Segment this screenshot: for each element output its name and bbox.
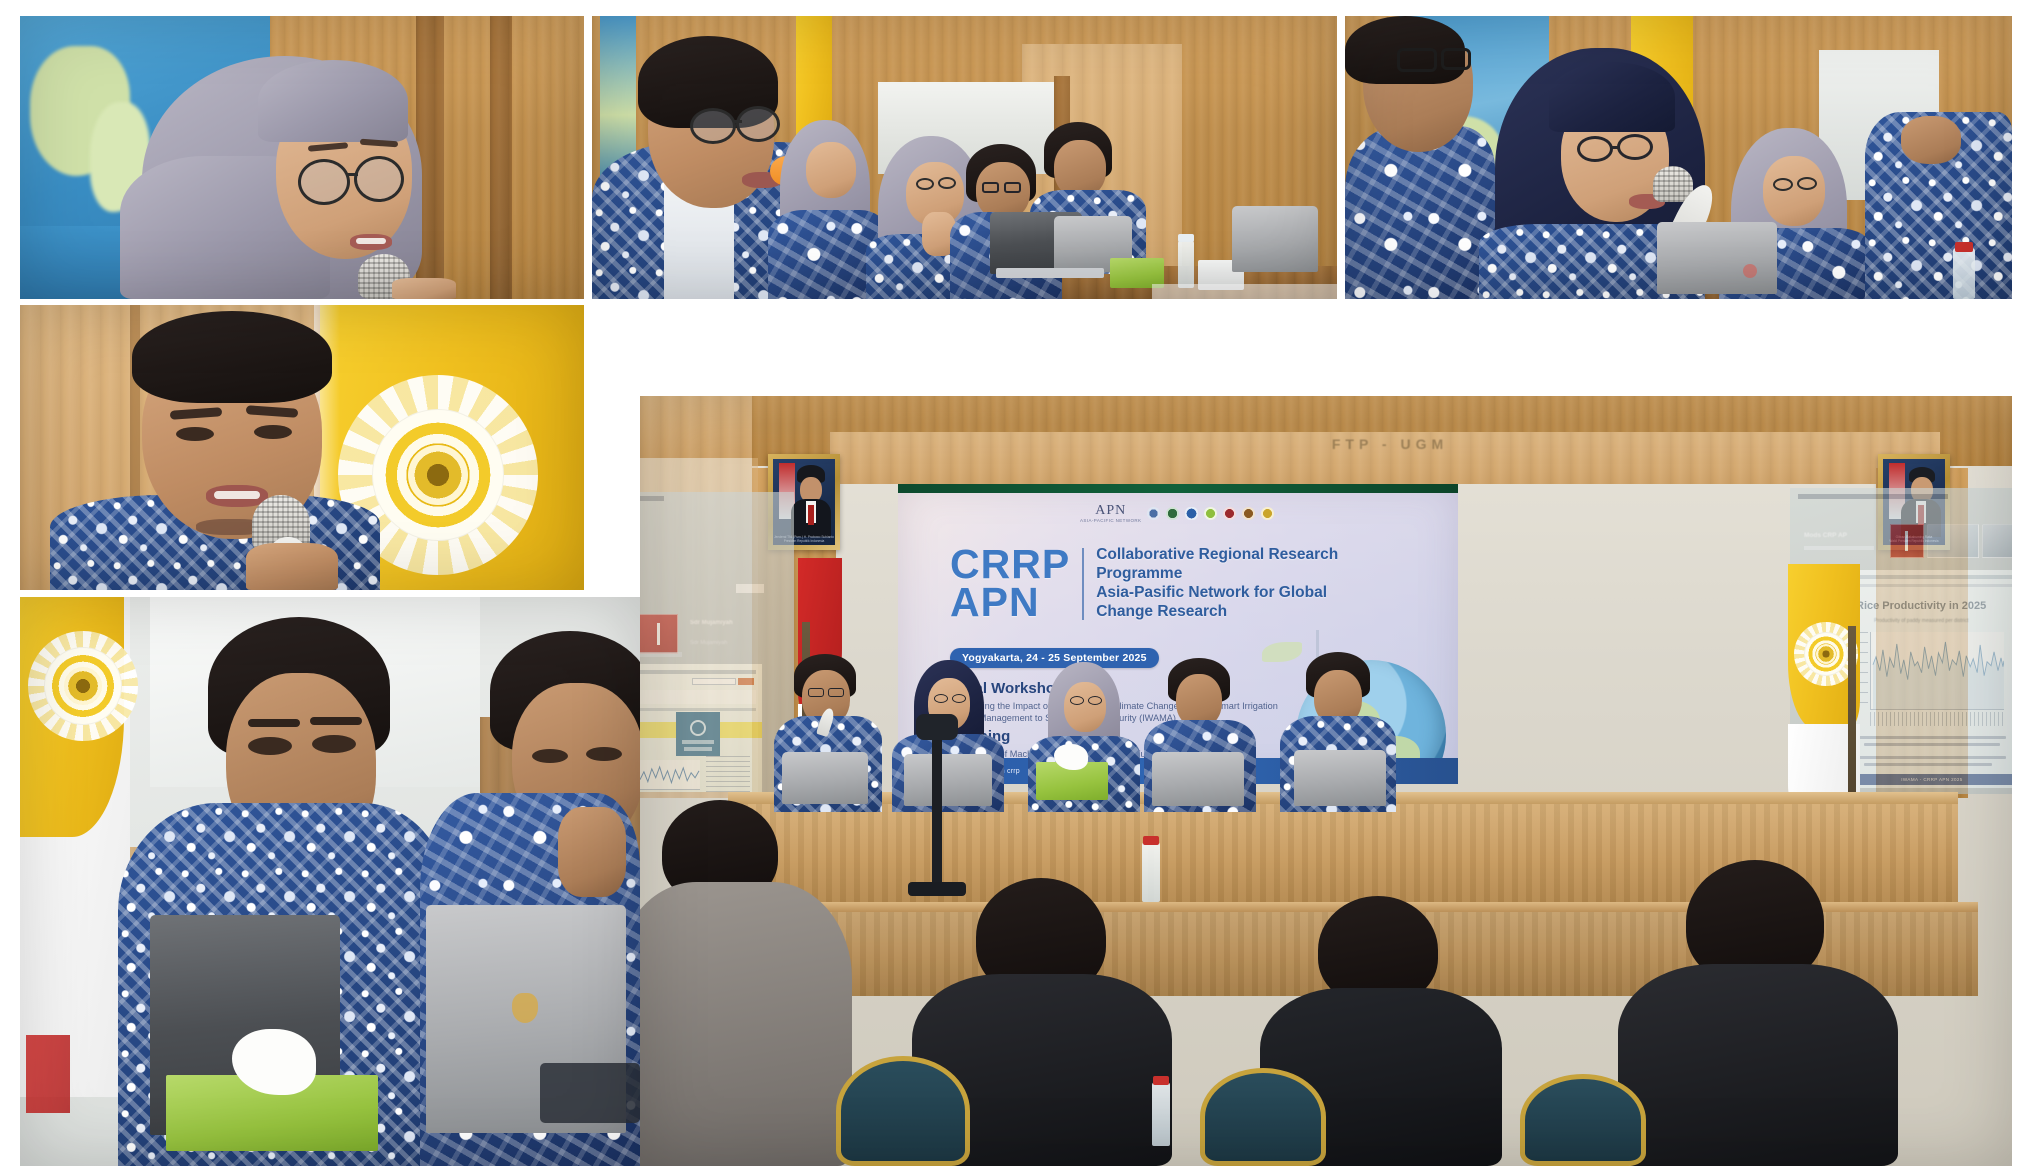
zoom-participant-strip [1890,524,2012,558]
partner-logo-4 [1204,507,1217,520]
partner-logo-1 [1147,507,1160,520]
spreadsheet-window [640,664,762,792]
crrp-acronym: CRRP APN [950,546,1070,621]
slide-bullet-2 [1856,756,2006,759]
microphone-stand [932,732,942,892]
tile-main: FTP - UGM Jenderal TNI (Purn.) H. Prabow… [640,396,2012,1166]
partner-logo-6 [1242,507,1255,520]
partner-logo-3 [1185,507,1198,520]
chart-x-axis-labels [1870,712,2004,726]
partner-logo-5 [1223,507,1236,520]
zoom-bar-label: Mods CRP AP [1804,532,1894,539]
zoom-participant-tile [640,614,678,654]
photo-collage: FTP - UGM Jenderal TNI (Purn.) H. Prabow… [0,0,2032,1166]
tile-mid-left [20,305,584,590]
slide-bullet-1 [1856,736,2006,739]
zoom-participant-name: Sdr Mujamiyah [690,620,786,626]
tile-bottom-left [20,597,640,1166]
slide-footer-bar: IWAMA - CRRP APN 2025 [1850,774,2012,785]
tile-top-left [20,16,584,299]
slide-subtitle: Productivity of paddy measured per distr… [1874,618,2012,624]
partner-logo-2 [1166,507,1179,520]
slide-title: Rice Productivity in 2025 [1856,600,1986,612]
rice-productivity-chart [1870,632,2004,710]
apn-logo: APN ASIA-PACIFIC NETWORK [1080,504,1141,523]
tile-top-right [1345,16,2012,299]
spreadsheet-mini-chart [640,760,700,790]
banner-top-bar [898,484,1458,493]
tile-top-center [592,16,1337,299]
crrp-expansion: Collaborative Regional Research Programm… [1096,546,1338,622]
spreadsheet-badge [676,712,720,756]
banner-partner-logos: APN ASIA-PACIFIC NETWORK [1080,504,1274,523]
zoom-tile-label: Sdr Mujamiyah [690,640,786,646]
room-sign: FTP - UGM [1280,436,1500,458]
crrp-title-block: CRRP APN Collaborative Regional Research… [950,546,1338,622]
partner-logo-7 [1261,507,1274,520]
title-divider [1082,548,1084,620]
